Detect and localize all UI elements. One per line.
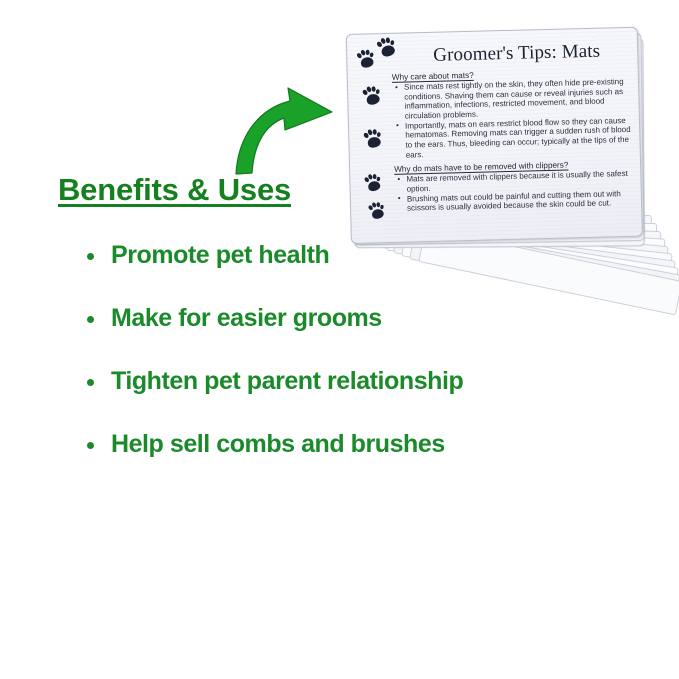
paw-print-icon <box>372 34 399 61</box>
paw-print-icon <box>365 200 388 223</box>
card-section-why-care: Why care about mats? Since mats rest tig… <box>392 67 636 161</box>
card-section-why-clippers: Why do mats have to be removed with clip… <box>394 159 637 214</box>
product-infographic: Groomer's Tips: Mats Why care about mats… <box>0 0 679 679</box>
list-item: Tighten pet parent relationship <box>84 366 554 396</box>
groomers-tip-card: Groomer's Tips: Mats Why care about mats… <box>346 27 643 244</box>
card-bullet: Importantly, mats on ears restrict blood… <box>393 116 636 160</box>
curved-arrow-icon <box>228 82 340 177</box>
list-item: Make for easier grooms <box>84 303 554 333</box>
benefits-list: Promote pet health Make for easier groom… <box>84 240 554 492</box>
paw-print-icon <box>361 172 385 196</box>
paw-print-icon <box>358 84 384 110</box>
page-title: Benefits & Uses <box>58 172 291 208</box>
list-item: Promote pet health <box>84 240 554 270</box>
paw-print-icon <box>360 127 386 153</box>
card-bullet: Since mats rest tightly on the skin, the… <box>392 77 635 121</box>
card-section-bullets: Since mats rest tightly on the skin, the… <box>392 77 636 160</box>
paw-print-icon <box>353 47 378 72</box>
list-item: Help sell combs and brushes <box>84 429 554 459</box>
card-section-bullets: Mats are removed with clippers because i… <box>394 169 637 214</box>
card-title: Groomer's Tips: Mats <box>433 41 600 67</box>
